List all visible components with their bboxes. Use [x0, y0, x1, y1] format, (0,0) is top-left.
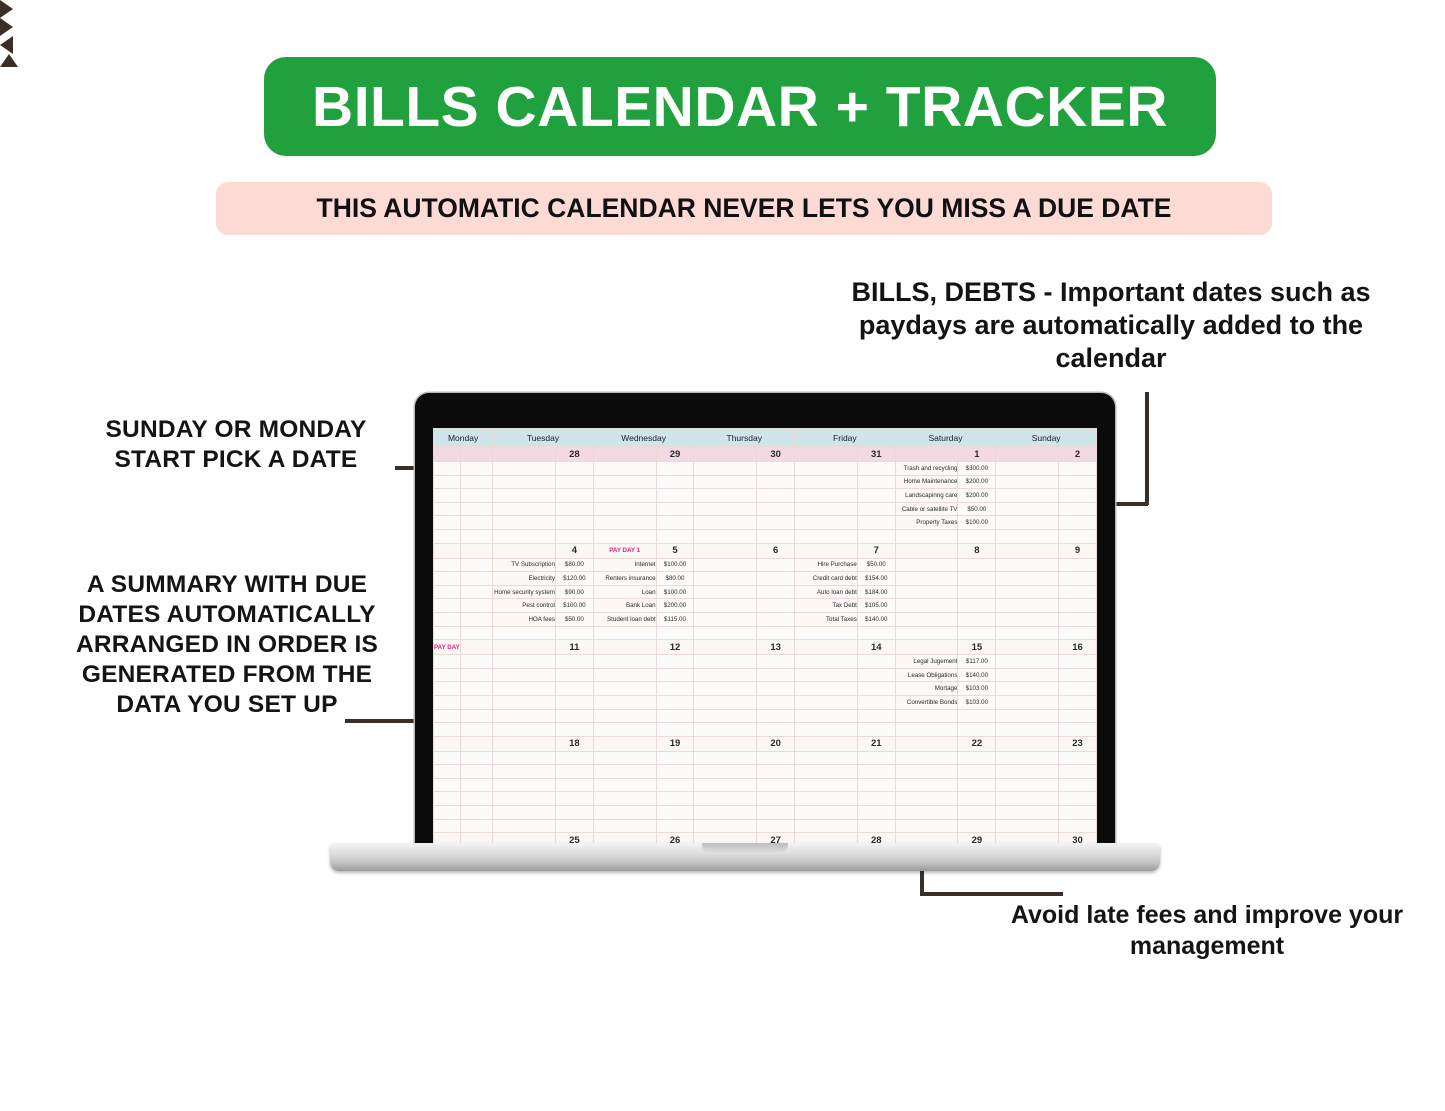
empty-cell[interactable] — [996, 475, 1059, 489]
empty-cell[interactable] — [434, 723, 461, 737]
empty-cell[interactable] — [656, 765, 694, 779]
empty-cell[interactable] — [857, 751, 895, 765]
empty-cell[interactable] — [757, 475, 795, 489]
empty-cell[interactable] — [461, 489, 493, 503]
empty-cell[interactable] — [795, 792, 858, 806]
empty-cell[interactable] — [434, 529, 461, 543]
empty-cell[interactable] — [757, 529, 795, 543]
bill-row[interactable]: Trash and recycling$300.00 — [434, 462, 1097, 476]
empty-cell[interactable] — [795, 668, 858, 682]
empty-cell[interactable] — [493, 765, 556, 779]
empty-cell[interactable] — [461, 516, 493, 530]
empty-cell[interactable] — [857, 778, 895, 792]
empty-cell[interactable] — [656, 751, 694, 765]
empty-cell[interactable] — [656, 792, 694, 806]
day-number-cell[interactable]: 8 — [958, 543, 996, 558]
empty-cell[interactable] — [757, 612, 795, 626]
empty-cell[interactable] — [434, 599, 461, 613]
empty-cell[interactable] — [461, 709, 493, 723]
bill-row[interactable]: Pest control$100.00Bank Loan$200.00Tax D… — [434, 599, 1097, 613]
empty-cell[interactable] — [694, 778, 757, 792]
empty-cell[interactable] — [555, 502, 593, 516]
bill-name-cell[interactable]: Student loan debt — [593, 612, 656, 626]
empty-cell[interactable] — [857, 695, 895, 709]
bill-name-cell[interactable]: Credit card debt — [795, 572, 858, 586]
empty-cell[interactable] — [493, 778, 556, 792]
day-number-cell[interactable]: 13 — [757, 640, 795, 655]
column-header-saturday[interactable]: Saturday — [895, 429, 996, 447]
empty-cell[interactable] — [656, 778, 694, 792]
day-number-cell[interactable]: 23 — [1059, 736, 1097, 751]
empty-cell[interactable] — [593, 626, 656, 640]
empty-cell[interactable] — [694, 695, 757, 709]
empty-cell[interactable] — [694, 502, 757, 516]
bill-name-cell[interactable]: Home security system — [493, 585, 556, 599]
empty-cell[interactable] — [461, 806, 493, 820]
bill-amount-cell[interactable]: $184.00 — [857, 585, 895, 599]
empty-cell[interactable] — [996, 626, 1059, 640]
empty-cell[interactable] — [694, 626, 757, 640]
empty-cell[interactable] — [757, 778, 795, 792]
empty-cell[interactable] — [795, 462, 858, 476]
empty-cell[interactable] — [694, 806, 757, 820]
empty-cell[interactable] — [434, 778, 461, 792]
empty-cell[interactable] — [895, 626, 958, 640]
empty-cell[interactable] — [694, 765, 757, 779]
empty-cell[interactable] — [996, 612, 1059, 626]
empty-cell[interactable] — [593, 723, 656, 737]
empty-cell[interactable] — [656, 668, 694, 682]
empty-cell[interactable] — [795, 626, 858, 640]
empty-cell[interactable] — [757, 819, 795, 833]
empty-cell[interactable] — [857, 723, 895, 737]
bill-row[interactable]: TV Subscription$80.00Internet$100.00Hire… — [434, 558, 1097, 572]
empty-cell[interactable] — [493, 806, 556, 820]
empty-cell[interactable] — [895, 529, 958, 543]
day-number-cell[interactable]: 19 — [656, 736, 694, 751]
bill-row[interactable] — [434, 529, 1097, 543]
empty-cell[interactable] — [795, 819, 858, 833]
empty-cell[interactable] — [493, 682, 556, 696]
empty-cell[interactable] — [757, 572, 795, 586]
empty-cell[interactable] — [795, 529, 858, 543]
empty-cell[interactable] — [857, 682, 895, 696]
day-number-cell[interactable]: 11 — [555, 640, 593, 655]
empty-cell[interactable] — [461, 682, 493, 696]
empty-cell[interactable] — [461, 655, 493, 669]
empty-cell[interactable] — [461, 612, 493, 626]
empty-cell[interactable] — [593, 695, 656, 709]
bill-row[interactable] — [434, 792, 1097, 806]
bill-amount-cell[interactable]: $100.00 — [656, 558, 694, 572]
empty-cell[interactable] — [895, 778, 958, 792]
bill-name-cell[interactable]: Cable or satellite TV — [895, 502, 958, 516]
empty-cell[interactable] — [1059, 778, 1097, 792]
bill-amount-cell[interactable]: $154.00 — [857, 572, 895, 586]
empty-cell[interactable] — [434, 695, 461, 709]
empty-cell[interactable] — [461, 792, 493, 806]
empty-cell[interactable] — [757, 585, 795, 599]
bill-amount-cell[interactable]: $50.00 — [555, 612, 593, 626]
empty-cell[interactable] — [555, 475, 593, 489]
empty-cell[interactable] — [656, 819, 694, 833]
empty-cell[interactable] — [656, 475, 694, 489]
empty-cell[interactable] — [555, 723, 593, 737]
bill-amount-cell[interactable]: $80.00 — [555, 558, 593, 572]
bill-amount-cell[interactable]: $140.00 — [857, 612, 895, 626]
bill-name-cell[interactable]: Renters insurance — [593, 572, 656, 586]
empty-cell[interactable] — [656, 489, 694, 503]
empty-cell[interactable] — [795, 751, 858, 765]
empty-cell[interactable] — [1059, 765, 1097, 779]
empty-cell[interactable] — [996, 792, 1059, 806]
bill-name-cell[interactable]: Total Taxes — [795, 612, 858, 626]
empty-cell[interactable] — [593, 529, 656, 543]
empty-cell[interactable] — [795, 778, 858, 792]
empty-cell[interactable] — [757, 462, 795, 476]
empty-cell[interactable] — [555, 709, 593, 723]
empty-cell[interactable] — [996, 655, 1059, 669]
day-number-cell[interactable]: 18 — [555, 736, 593, 751]
empty-cell[interactable] — [857, 806, 895, 820]
bill-name-cell[interactable]: Internet — [593, 558, 656, 572]
empty-cell[interactable] — [757, 668, 795, 682]
empty-cell[interactable] — [461, 585, 493, 599]
empty-cell[interactable] — [593, 778, 656, 792]
bill-row[interactable] — [434, 819, 1097, 833]
empty-cell[interactable] — [857, 489, 895, 503]
empty-cell[interactable] — [958, 819, 996, 833]
empty-cell[interactable] — [895, 723, 958, 737]
day-number-cell[interactable]: 15 — [958, 640, 996, 655]
empty-cell[interactable] — [757, 765, 795, 779]
empty-cell[interactable] — [593, 516, 656, 530]
empty-cell[interactable] — [593, 462, 656, 476]
bill-name-cell[interactable]: Trash and recycling — [895, 462, 958, 476]
empty-cell[interactable] — [593, 709, 656, 723]
empty-cell[interactable] — [493, 792, 556, 806]
empty-cell[interactable] — [694, 572, 757, 586]
empty-cell[interactable] — [1059, 695, 1097, 709]
empty-cell[interactable] — [461, 626, 493, 640]
empty-cell[interactable] — [656, 695, 694, 709]
empty-cell[interactable] — [1059, 599, 1097, 613]
day-number-cell[interactable]: 28 — [555, 447, 593, 462]
empty-cell[interactable] — [434, 558, 461, 572]
empty-cell[interactable] — [555, 668, 593, 682]
empty-cell[interactable] — [895, 599, 958, 613]
empty-cell[interactable] — [996, 819, 1059, 833]
bill-row[interactable]: Electricity$120.00Renters insurance$80.0… — [434, 572, 1097, 586]
day-number-cell[interactable]: 9 — [1059, 543, 1097, 558]
empty-cell[interactable] — [593, 502, 656, 516]
empty-cell[interactable] — [1059, 709, 1097, 723]
empty-cell[interactable] — [694, 792, 757, 806]
day-number-cell[interactable]: 16 — [1059, 640, 1097, 655]
bill-name-cell[interactable]: Property Taxes — [895, 516, 958, 530]
empty-cell[interactable] — [493, 502, 556, 516]
empty-cell[interactable] — [795, 502, 858, 516]
empty-cell[interactable] — [857, 819, 895, 833]
empty-cell[interactable] — [434, 489, 461, 503]
empty-cell[interactable] — [434, 502, 461, 516]
bill-name-cell[interactable]: Mortage — [895, 682, 958, 696]
day-number-cell[interactable]: 29 — [656, 447, 694, 462]
empty-cell[interactable] — [461, 778, 493, 792]
bill-row[interactable]: HOA fees$50.00Student loan debt$115.00To… — [434, 612, 1097, 626]
empty-cell[interactable] — [461, 502, 493, 516]
empty-cell[interactable] — [895, 819, 958, 833]
empty-cell[interactable] — [757, 502, 795, 516]
empty-cell[interactable] — [461, 529, 493, 543]
bill-name-cell[interactable]: Convertible Bonds — [895, 695, 958, 709]
empty-cell[interactable] — [461, 695, 493, 709]
empty-cell[interactable] — [795, 655, 858, 669]
empty-cell[interactable] — [1059, 558, 1097, 572]
empty-cell[interactable] — [593, 765, 656, 779]
empty-cell[interactable] — [795, 765, 858, 779]
empty-cell[interactable] — [434, 792, 461, 806]
empty-cell[interactable] — [434, 612, 461, 626]
empty-cell[interactable] — [656, 655, 694, 669]
empty-cell[interactable] — [996, 572, 1059, 586]
empty-cell[interactable] — [493, 462, 556, 476]
empty-cell[interactable] — [434, 765, 461, 779]
empty-cell[interactable] — [795, 475, 858, 489]
empty-cell[interactable] — [694, 475, 757, 489]
empty-cell[interactable] — [694, 489, 757, 503]
empty-cell[interactable] — [1059, 489, 1097, 503]
empty-cell[interactable] — [895, 612, 958, 626]
bill-name-cell[interactable]: Loan — [593, 585, 656, 599]
empty-cell[interactable] — [895, 709, 958, 723]
empty-cell[interactable] — [461, 668, 493, 682]
day-number-cell[interactable]: 5 — [656, 543, 694, 558]
empty-cell[interactable] — [958, 626, 996, 640]
bill-name-cell[interactable]: Home Maintenance — [895, 475, 958, 489]
empty-cell[interactable] — [958, 529, 996, 543]
empty-cell[interactable] — [434, 516, 461, 530]
empty-cell[interactable] — [694, 462, 757, 476]
empty-cell[interactable] — [1059, 475, 1097, 489]
empty-cell[interactable] — [958, 792, 996, 806]
empty-cell[interactable] — [757, 682, 795, 696]
day-number-cell[interactable]: 31 — [857, 447, 895, 462]
empty-cell[interactable] — [1059, 612, 1097, 626]
empty-cell[interactable] — [958, 599, 996, 613]
empty-cell[interactable] — [461, 475, 493, 489]
bill-name-cell[interactable]: Hire Purchase — [795, 558, 858, 572]
empty-cell[interactable] — [555, 778, 593, 792]
empty-cell[interactable] — [795, 695, 858, 709]
empty-cell[interactable] — [1059, 585, 1097, 599]
bill-name-cell[interactable]: TV Subscription — [493, 558, 556, 572]
bill-amount-cell[interactable]: $80.00 — [656, 572, 694, 586]
empty-cell[interactable] — [757, 516, 795, 530]
empty-cell[interactable] — [895, 572, 958, 586]
empty-cell[interactable] — [593, 475, 656, 489]
bill-amount-cell[interactable]: $117.00 — [958, 655, 996, 669]
empty-cell[interactable] — [857, 529, 895, 543]
column-header-wednesday[interactable]: Wednesday — [593, 429, 694, 447]
empty-cell[interactable] — [555, 516, 593, 530]
empty-cell[interactable] — [757, 695, 795, 709]
empty-cell[interactable] — [996, 778, 1059, 792]
empty-cell[interactable] — [958, 806, 996, 820]
empty-cell[interactable] — [493, 668, 556, 682]
empty-cell[interactable] — [694, 682, 757, 696]
bill-name-cell[interactable]: Tax Debt — [795, 599, 858, 613]
empty-cell[interactable] — [1059, 792, 1097, 806]
empty-cell[interactable] — [996, 462, 1059, 476]
empty-cell[interactable] — [593, 489, 656, 503]
empty-cell[interactable] — [555, 765, 593, 779]
bill-row[interactable] — [434, 751, 1097, 765]
bill-row[interactable]: Home Maintenance$200.00 — [434, 475, 1097, 489]
bill-row[interactable]: Cable or satellite TV$50.00 — [434, 502, 1097, 516]
empty-cell[interactable] — [694, 516, 757, 530]
empty-cell[interactable] — [493, 695, 556, 709]
empty-cell[interactable] — [757, 655, 795, 669]
empty-cell[interactable] — [958, 765, 996, 779]
empty-cell[interactable] — [461, 765, 493, 779]
empty-cell[interactable] — [493, 529, 556, 543]
empty-cell[interactable] — [795, 516, 858, 530]
empty-cell[interactable] — [461, 572, 493, 586]
empty-cell[interactable] — [958, 572, 996, 586]
bill-row[interactable] — [434, 626, 1097, 640]
empty-cell[interactable] — [895, 585, 958, 599]
empty-cell[interactable] — [857, 765, 895, 779]
bill-name-cell[interactable]: Lease Obligations — [895, 668, 958, 682]
empty-cell[interactable] — [656, 626, 694, 640]
empty-cell[interactable] — [694, 585, 757, 599]
empty-cell[interactable] — [656, 682, 694, 696]
empty-cell[interactable] — [895, 751, 958, 765]
empty-cell[interactable] — [1059, 516, 1097, 530]
bill-row[interactable]: Property Taxes$100.00 — [434, 516, 1097, 530]
day-number-cell[interactable]: 6 — [757, 543, 795, 558]
bill-row[interactable]: Convertible Bonds$103.00 — [434, 695, 1097, 709]
empty-cell[interactable] — [958, 723, 996, 737]
empty-cell[interactable] — [895, 558, 958, 572]
empty-cell[interactable] — [493, 516, 556, 530]
empty-cell[interactable] — [1059, 572, 1097, 586]
bill-amount-cell[interactable]: $103.00 — [958, 682, 996, 696]
empty-cell[interactable] — [493, 709, 556, 723]
empty-cell[interactable] — [434, 682, 461, 696]
empty-cell[interactable] — [757, 558, 795, 572]
empty-cell[interactable] — [757, 723, 795, 737]
bill-amount-cell[interactable]: $120.00 — [555, 572, 593, 586]
empty-cell[interactable] — [757, 489, 795, 503]
empty-cell[interactable] — [795, 489, 858, 503]
empty-cell[interactable] — [461, 462, 493, 476]
empty-cell[interactable] — [694, 599, 757, 613]
empty-cell[interactable] — [434, 819, 461, 833]
column-header-tuesday[interactable]: Tuesday — [493, 429, 594, 447]
empty-cell[interactable] — [958, 751, 996, 765]
empty-cell[interactable] — [757, 806, 795, 820]
bill-amount-cell[interactable]: $115.00 — [656, 612, 694, 626]
empty-cell[interactable] — [857, 709, 895, 723]
empty-cell[interactable] — [996, 585, 1059, 599]
empty-cell[interactable] — [593, 668, 656, 682]
empty-cell[interactable] — [434, 751, 461, 765]
empty-cell[interactable] — [593, 792, 656, 806]
empty-cell[interactable] — [1059, 806, 1097, 820]
day-number-cell[interactable]: 21 — [857, 736, 895, 751]
empty-cell[interactable] — [958, 585, 996, 599]
bill-row[interactable]: Legal Jugement$117.00 — [434, 655, 1097, 669]
bill-amount-cell[interactable]: $50.00 — [857, 558, 895, 572]
empty-cell[interactable] — [656, 709, 694, 723]
empty-cell[interactable] — [694, 819, 757, 833]
empty-cell[interactable] — [1059, 626, 1097, 640]
empty-cell[interactable] — [857, 516, 895, 530]
empty-cell[interactable] — [1059, 655, 1097, 669]
empty-cell[interactable] — [493, 489, 556, 503]
empty-cell[interactable] — [656, 516, 694, 530]
bill-name-cell[interactable]: HOA fees — [493, 612, 556, 626]
empty-cell[interactable] — [555, 626, 593, 640]
bill-amount-cell[interactable]: $90.00 — [555, 585, 593, 599]
empty-cell[interactable] — [1059, 819, 1097, 833]
empty-cell[interactable] — [996, 489, 1059, 503]
empty-cell[interactable] — [461, 558, 493, 572]
empty-cell[interactable] — [996, 668, 1059, 682]
bill-row[interactable]: Landscapinng care$200.00 — [434, 489, 1097, 503]
empty-cell[interactable] — [857, 475, 895, 489]
empty-cell[interactable] — [895, 806, 958, 820]
empty-cell[interactable] — [694, 668, 757, 682]
empty-cell[interactable] — [1059, 529, 1097, 543]
bill-amount-cell[interactable]: $200.00 — [958, 475, 996, 489]
bill-amount-cell[interactable]: $50.00 — [958, 502, 996, 516]
empty-cell[interactable] — [555, 751, 593, 765]
empty-cell[interactable] — [434, 572, 461, 586]
empty-cell[interactable] — [996, 516, 1059, 530]
empty-cell[interactable] — [694, 751, 757, 765]
bill-amount-cell[interactable]: $140.00 — [958, 668, 996, 682]
empty-cell[interactable] — [555, 819, 593, 833]
day-number-cell[interactable] — [461, 640, 493, 655]
empty-cell[interactable] — [656, 529, 694, 543]
empty-cell[interactable] — [996, 709, 1059, 723]
bill-amount-cell[interactable]: $100.00 — [958, 516, 996, 530]
bills-calendar-spreadsheet[interactable]: MondayTuesdayWednesdayThursdayFridaySatu… — [433, 428, 1097, 847]
empty-cell[interactable] — [434, 709, 461, 723]
empty-cell[interactable] — [434, 585, 461, 599]
bill-row[interactable]: Home security system$90.00Loan$100.00Aut… — [434, 585, 1097, 599]
empty-cell[interactable] — [555, 806, 593, 820]
empty-cell[interactable] — [656, 462, 694, 476]
empty-cell[interactable] — [996, 806, 1059, 820]
column-header-sunday[interactable]: Sunday — [996, 429, 1097, 447]
bill-row[interactable]: Lease Obligations$140.00 — [434, 668, 1097, 682]
empty-cell[interactable] — [493, 475, 556, 489]
empty-cell[interactable] — [757, 626, 795, 640]
bill-amount-cell[interactable]: $103.00 — [958, 695, 996, 709]
empty-cell[interactable] — [1059, 462, 1097, 476]
empty-cell[interactable] — [757, 792, 795, 806]
bill-amount-cell[interactable]: $300.00 — [958, 462, 996, 476]
empty-cell[interactable] — [857, 668, 895, 682]
day-number-cell[interactable]: 20 — [757, 736, 795, 751]
empty-cell[interactable] — [434, 462, 461, 476]
bill-row[interactable]: Mortage$103.00 — [434, 682, 1097, 696]
empty-cell[interactable] — [434, 475, 461, 489]
